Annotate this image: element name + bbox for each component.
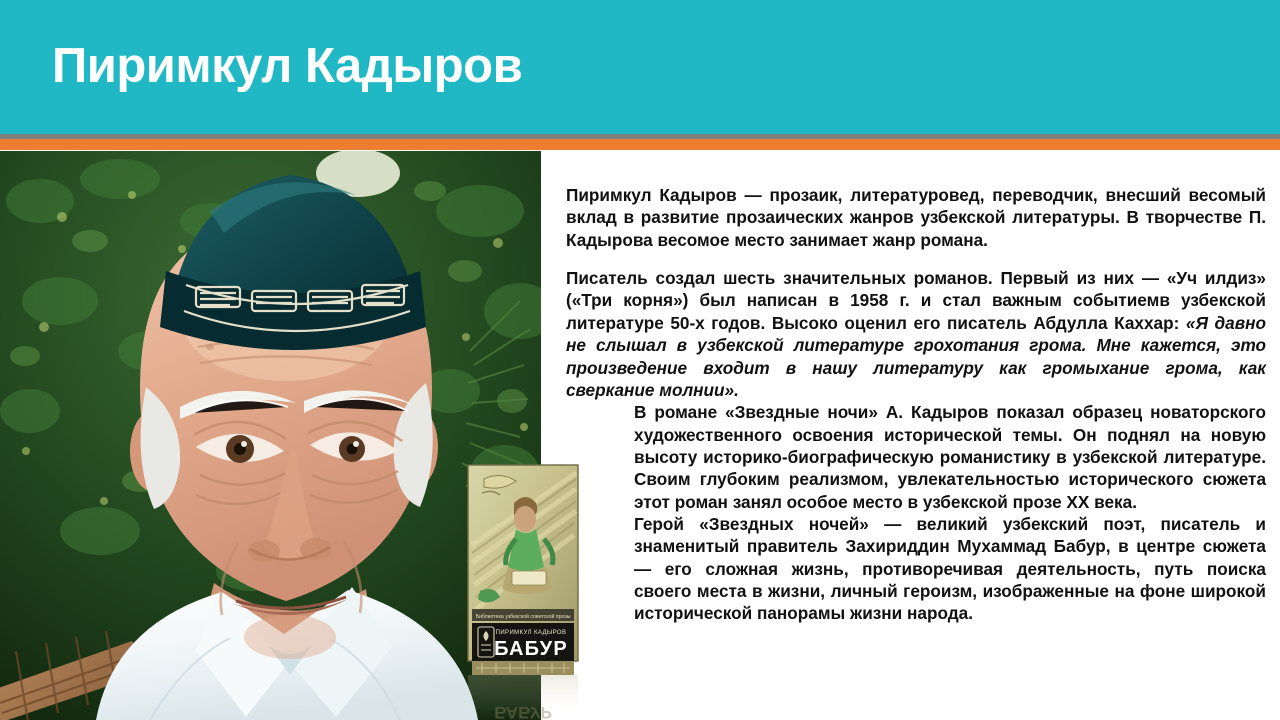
slide-root: Пиримкул Кадыров <box>0 0 1280 720</box>
book-series-text: Библиотека узбекской советской прозы <box>476 613 571 620</box>
paragraph-2: Писатель создал шесть значительных роман… <box>566 267 1266 401</box>
paragraph-3: В романе «Звездные ночи» А. Кадыров пока… <box>634 401 1266 513</box>
svg-text:БАБУР: БАБУР <box>494 703 552 720</box>
paragraph-4: Герой «Звездных ночей» — великий узбекск… <box>634 513 1266 625</box>
svg-text:ПИРИМКУЛ КАДЫРОВ: ПИРИМКУЛ КАДЫРОВ <box>496 630 567 636</box>
paragraph-2-lead: Писатель создал шесть значительных роман… <box>566 268 1266 333</box>
svg-text:БАБУР: БАБУР <box>494 638 568 660</box>
page-title: Пиримкул Кадыров <box>52 38 522 94</box>
body-text-block: Пиримкул Кадыров — прозаик, литературове… <box>566 184 1266 625</box>
divider-orange <box>0 139 1280 150</box>
paragraph-1: Пиримкул Кадыров — прозаик, литературове… <box>566 184 1266 251</box>
